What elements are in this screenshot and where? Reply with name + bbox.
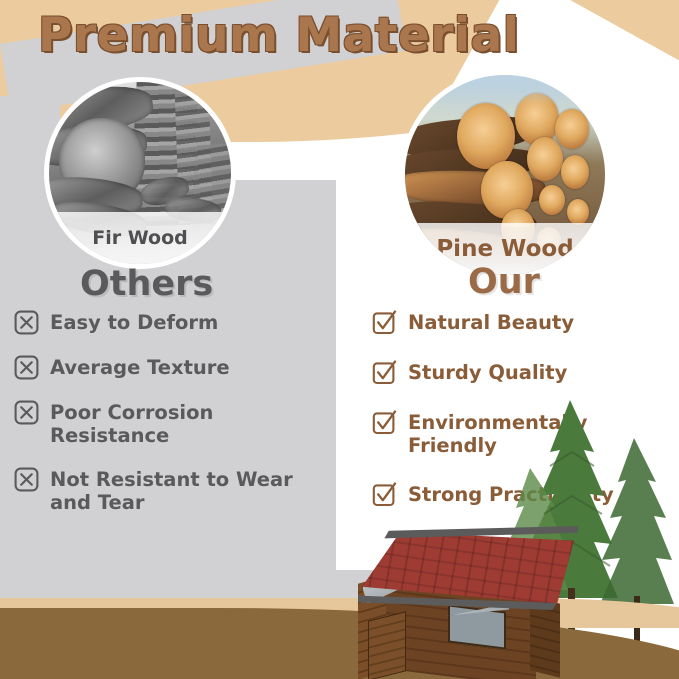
list-item: Natural Beauty (372, 310, 672, 335)
others-heading: Others (80, 264, 213, 304)
list-item-label: Sturdy Quality (408, 360, 567, 385)
x-mark-icon (14, 310, 39, 335)
list-item: Poor Corrosion Resistance (14, 400, 336, 447)
list-item-label: Average Texture (50, 355, 230, 380)
our-heading: Our (468, 262, 540, 302)
check-mark-icon (372, 410, 397, 435)
list-item-label: Easy to Deform (50, 310, 218, 335)
dog-house-door (368, 611, 406, 679)
list-item: Sturdy Quality (372, 360, 672, 385)
x-mark-icon (14, 467, 39, 492)
list-item: Easy to Deform (14, 310, 336, 335)
check-mark-icon (372, 482, 397, 507)
infographic-canvas: Premium Material Fir Wood (0, 0, 679, 679)
pine-wood-photo-badge: Pine Wood (405, 75, 605, 275)
list-item-label: Poor Corrosion Resistance (50, 400, 336, 447)
x-mark-icon (14, 355, 39, 380)
list-item-label: Not Resistant to Wear and Tear (50, 467, 300, 514)
fir-wood-label: Fir Wood (49, 212, 231, 264)
list-item: Not Resistant to Wear and Tear (14, 467, 336, 514)
list-item-label: Natural Beauty (408, 310, 574, 335)
others-feature-list: Easy to Deform Average Texture Poor Corr… (14, 310, 336, 534)
page-title: Premium Material (38, 8, 519, 63)
x-mark-icon (14, 400, 39, 425)
dog-house-image (352, 512, 587, 679)
check-mark-icon (372, 360, 397, 385)
list-item: Average Texture (14, 355, 336, 380)
fir-wood-photo-badge: Fir Wood (49, 82, 231, 264)
check-mark-icon (372, 310, 397, 335)
